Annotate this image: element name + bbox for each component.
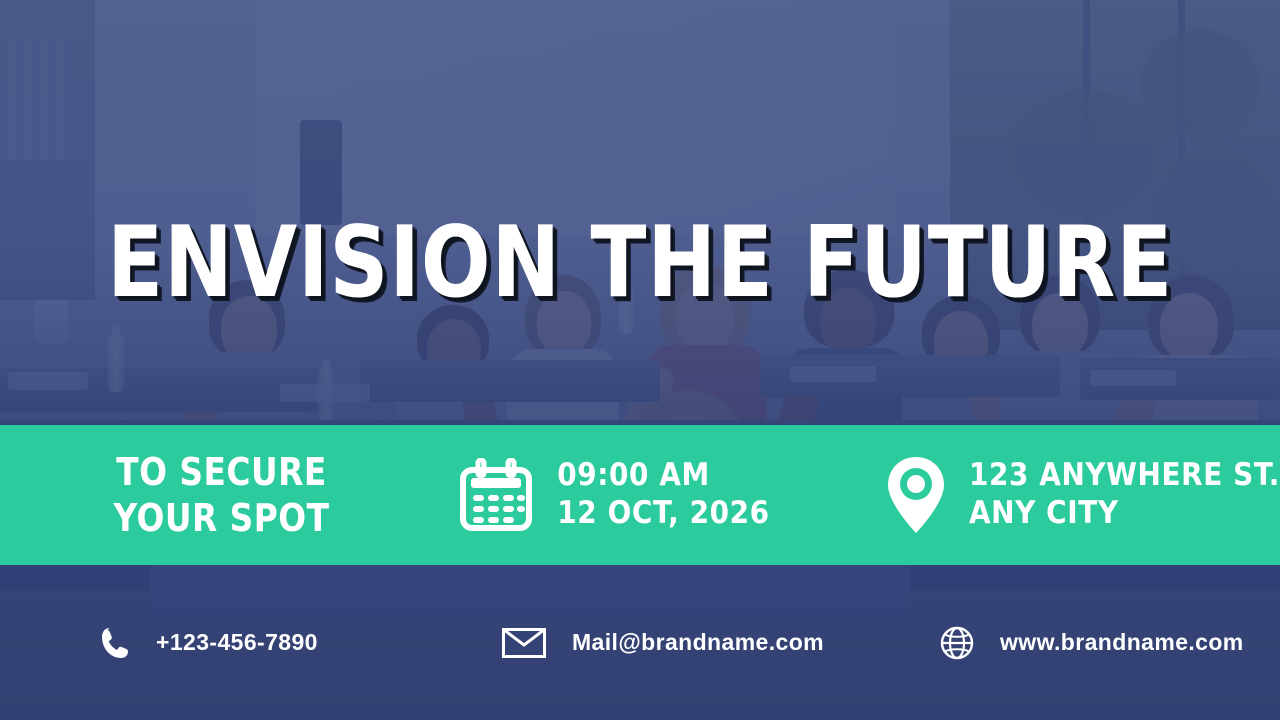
- contact-phone[interactable]: +123-456-7890: [0, 565, 490, 720]
- cta-line-1: TO SECURE: [114, 449, 330, 495]
- page-title: ENVISION THE FUTURE: [107, 214, 1173, 312]
- phone-number: +123-456-7890: [156, 629, 318, 656]
- details-band: TO SECURE YOUR SPOT: [0, 425, 1280, 565]
- calendar-icon: [459, 458, 533, 532]
- cta-block: TO SECURE YOUR SPOT: [0, 425, 443, 565]
- contact-footer: +123-456-7890 Mail@brandname.com: [0, 565, 1280, 720]
- event-poster: ENVISION THE FUTURE TO SECURE YOUR SPOT: [0, 0, 1280, 720]
- map-pin-icon: [885, 454, 947, 536]
- address-line-2: ANY CITY: [969, 495, 1280, 533]
- address-text: 123 ANYWHERE ST. ANY CITY: [969, 457, 1280, 533]
- cta-text: TO SECURE YOUR SPOT: [114, 449, 330, 542]
- date-time-text: 09:00 AM 12 OCT, 2026: [557, 457, 769, 533]
- address-line-1: 123 ANYWHERE ST.: [969, 457, 1280, 495]
- contact-email[interactable]: Mail@brandname.com: [490, 565, 922, 720]
- location-block: 123 ANYWHERE ST. ANY CITY: [873, 425, 1280, 565]
- title-container: ENVISION THE FUTURE: [0, 214, 1280, 312]
- website-url: www.brandname.com: [1000, 629, 1244, 656]
- event-date: 12 OCT, 2026: [557, 495, 769, 533]
- email-address: Mail@brandname.com: [572, 629, 824, 656]
- event-time: 09:00 AM: [557, 457, 769, 495]
- phone-icon: [100, 626, 130, 660]
- contact-website[interactable]: www.brandname.com: [922, 565, 1280, 720]
- envelope-icon: [502, 628, 546, 658]
- globe-icon: [940, 626, 974, 660]
- cta-line-2: YOUR SPOT: [114, 495, 330, 541]
- date-time-block: 09:00 AM 12 OCT, 2026: [443, 425, 873, 565]
